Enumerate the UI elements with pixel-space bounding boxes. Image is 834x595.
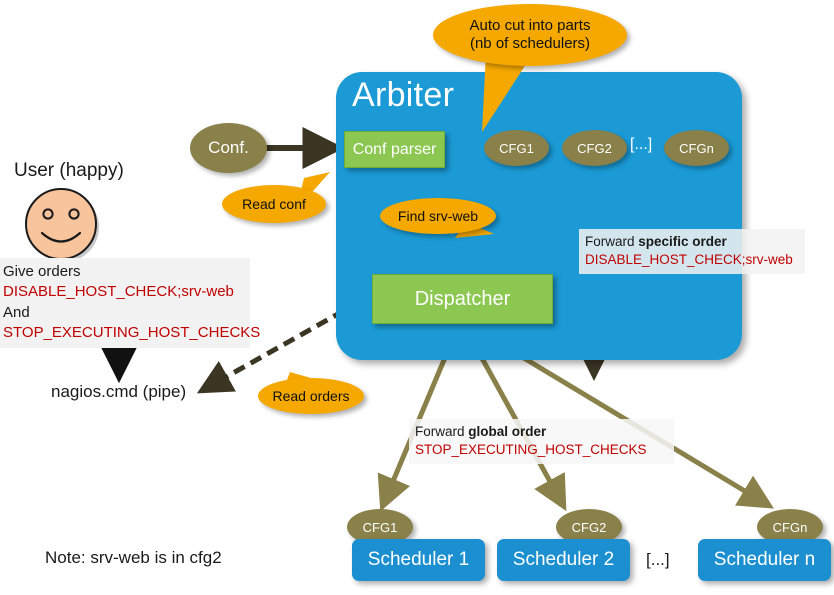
scheduler-2-label: Scheduler 2 xyxy=(513,549,614,571)
callout-auto-cut-line-1: Auto cut into parts xyxy=(470,17,591,35)
callout-read-conf-label: Read conf xyxy=(242,196,306,213)
conf-source-node[interactable]: Conf. xyxy=(190,123,267,173)
footer-note: Note: srv-web is in cfg2 xyxy=(45,548,222,568)
scheduler-n-node[interactable]: Scheduler n xyxy=(698,539,831,581)
forward-specific-prefix: Forward xyxy=(585,234,638,249)
scheduler-config-cfg1-label: CFG1 xyxy=(363,520,398,535)
arbiter-config-cfgn-label: CFGn xyxy=(679,141,714,156)
forward-global-order-note: Forward global order STOP_EXECUTING_HOST… xyxy=(409,419,674,464)
dispatcher-node[interactable]: Dispatcher xyxy=(372,274,553,324)
user-label: User (happy) xyxy=(14,160,124,182)
conf-parser-label: Conf parser xyxy=(353,141,437,159)
forward-specific-order: DISABLE_HOST_CHECK;srv-web xyxy=(585,251,799,269)
orders-line-2: DISABLE_HOST_CHECK;srv-web xyxy=(3,282,247,302)
callout-read-conf: Read conf xyxy=(222,185,326,223)
forward-specific-emphasis: specific order xyxy=(638,234,727,249)
scheduler-2-node[interactable]: Scheduler 2 xyxy=(497,539,630,581)
forward-global-emphasis: global order xyxy=(468,424,546,439)
forward-global-prefix: Forward xyxy=(415,424,468,439)
conf-source-label: Conf. xyxy=(208,138,249,158)
conf-parser-node[interactable]: Conf parser xyxy=(344,131,445,168)
scheduler-1-label: Scheduler 1 xyxy=(368,549,469,571)
arbiter-title: Arbiter xyxy=(352,76,454,115)
callout-auto-cut: Auto cut into parts (nb of schedulers) xyxy=(433,4,627,66)
callout-read-orders: Read orders xyxy=(258,378,364,414)
orders-line-1: Give orders xyxy=(3,262,247,282)
forward-global-heading: Forward global order xyxy=(415,423,668,441)
user-orders-note: Give orders DISABLE_HOST_CHECK;srv-web A… xyxy=(0,258,250,348)
forward-specific-heading: Forward specific order xyxy=(585,233,799,251)
arbiter-config-cfg2[interactable]: CFG2 xyxy=(562,130,627,166)
scheduler-config-cfgn-label: CFGn xyxy=(773,520,808,535)
scheduler-1-node[interactable]: Scheduler 1 xyxy=(352,539,485,581)
callout-read-orders-label: Read orders xyxy=(272,388,349,405)
forward-global-order: STOP_EXECUTING_HOST_CHECKS xyxy=(415,441,668,459)
arbiter-config-cfg1[interactable]: CFG1 xyxy=(484,130,549,166)
nagios-cmd-pipe-label: nagios.cmd (pipe) xyxy=(51,382,186,402)
arbiter-config-cfgn[interactable]: CFGn xyxy=(664,130,729,166)
callout-auto-cut-line-2: (nb of schedulers) xyxy=(470,35,590,53)
scheduler-ellipsis: [...] xyxy=(646,550,670,570)
arbiter-config-cfg1-label: CFG1 xyxy=(499,141,534,156)
forward-specific-order-note: Forward specific order DISABLE_HOST_CHEC… xyxy=(579,229,805,274)
orders-line-3: And xyxy=(3,303,247,323)
orders-line-4: STOP_EXECUTING_HOST_CHECKS xyxy=(3,323,247,343)
arbiter-config-ellipsis: [...] xyxy=(630,136,652,154)
callout-find-srv-web-label: Find srv-web xyxy=(398,208,478,225)
dispatcher-label: Dispatcher xyxy=(415,288,511,311)
arbiter-config-cfg2-label: CFG2 xyxy=(577,141,612,156)
callout-find-srv-web: Find srv-web xyxy=(380,198,496,234)
scheduler-config-cfg2-label: CFG2 xyxy=(572,520,607,535)
scheduler-n-label: Scheduler n xyxy=(714,549,815,571)
